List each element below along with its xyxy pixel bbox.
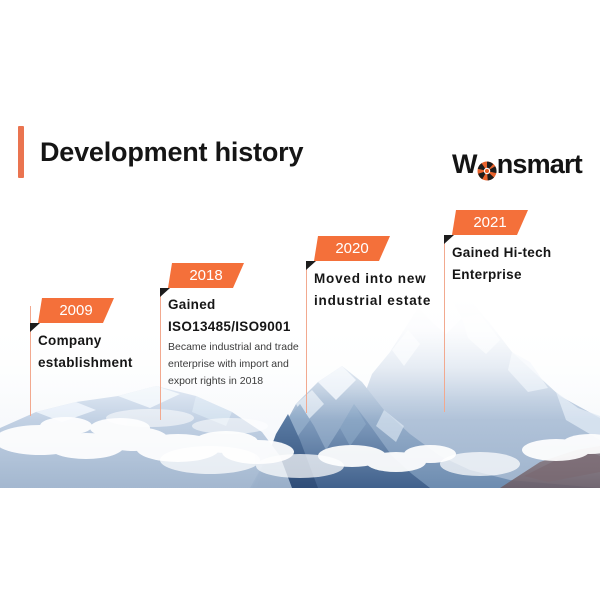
slide-canvas: Development history W nsmart 200 [0, 0, 600, 600]
year-banner-2018[interactable]: 2018 [168, 263, 244, 288]
heading-line: ISO13485/ISO9001 [168, 316, 291, 338]
body-line: enterprise with import and [168, 356, 299, 373]
year-banner-2020[interactable]: 2020 [314, 236, 390, 261]
connector-line-2021 [444, 236, 445, 412]
milestone-body-2018: Became industrial and trade enterprise w… [168, 339, 299, 390]
title-accent-bar [18, 126, 24, 178]
connector-line-2018 [160, 290, 161, 420]
heading-line: Gained [168, 294, 291, 316]
brand-logo: W nsmart [452, 149, 582, 180]
logo-text-after: nsmart [497, 149, 582, 180]
milestone-heading-2009: Company establishment [38, 330, 133, 374]
bottom-white-area [0, 488, 600, 600]
body-line: Became industrial and trade [168, 339, 299, 356]
year-banner-2009[interactable]: 2009 [38, 298, 114, 323]
page-title: Development history [40, 137, 303, 168]
year-banner-2021[interactable]: 2021 [452, 210, 528, 235]
heading-line: Enterprise [452, 264, 551, 286]
page-title-group: Development history [18, 126, 303, 178]
year-label-2020: 2020 [335, 240, 368, 257]
mountain-background-image [0, 300, 600, 488]
logo-text-before: W [452, 149, 477, 180]
heading-line: industrial estate [314, 290, 431, 312]
milestone-heading-2021: Gained Hi-tech Enterprise [452, 242, 551, 286]
year-label-2021: 2021 [473, 214, 506, 231]
logo-swirl-icon [477, 157, 497, 177]
milestone-heading-2018: Gained ISO13485/ISO9001 [168, 294, 291, 338]
year-label-2018: 2018 [189, 267, 222, 284]
heading-line: establishment [38, 352, 133, 374]
heading-line: Gained Hi-tech [452, 242, 551, 264]
heading-line: Company [38, 330, 133, 352]
year-label-2009: 2009 [59, 302, 92, 319]
connector-line-2020 [306, 263, 307, 413]
body-line: export rights in 2018 [168, 373, 299, 390]
heading-line: Moved into new [314, 268, 431, 290]
milestone-heading-2020: Moved into new industrial estate [314, 268, 431, 312]
